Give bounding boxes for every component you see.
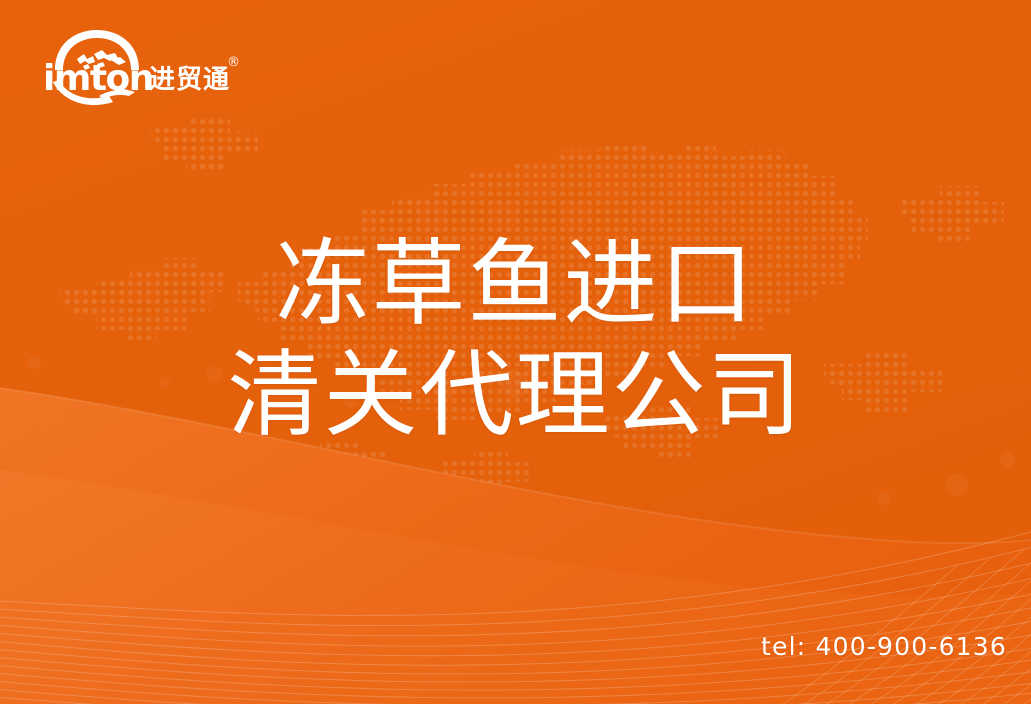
promo-banner: imton 进贸通 ® 冻草鱼进口 清关代理公司 tel: 400-900-61…	[0, 0, 1031, 704]
page-title: 冻草鱼进口 清关代理公司	[0, 232, 1031, 449]
logo-chinese-name: 进贸通	[149, 65, 230, 95]
bokeh-circle	[946, 474, 968, 496]
brand-logo[interactable]: imton 进贸通 ®	[37, 26, 247, 106]
bokeh-circle	[878, 492, 891, 505]
logo-wordmark: imton	[43, 58, 153, 99]
headline-line-1: 冻草鱼进口	[0, 232, 1031, 337]
trademark-symbol: ®	[227, 55, 240, 70]
bokeh-circle	[1000, 452, 1015, 467]
headline-line-2: 清关代理公司	[0, 343, 1031, 448]
contact-phone[interactable]: tel: 400-900-6136	[761, 632, 1007, 661]
